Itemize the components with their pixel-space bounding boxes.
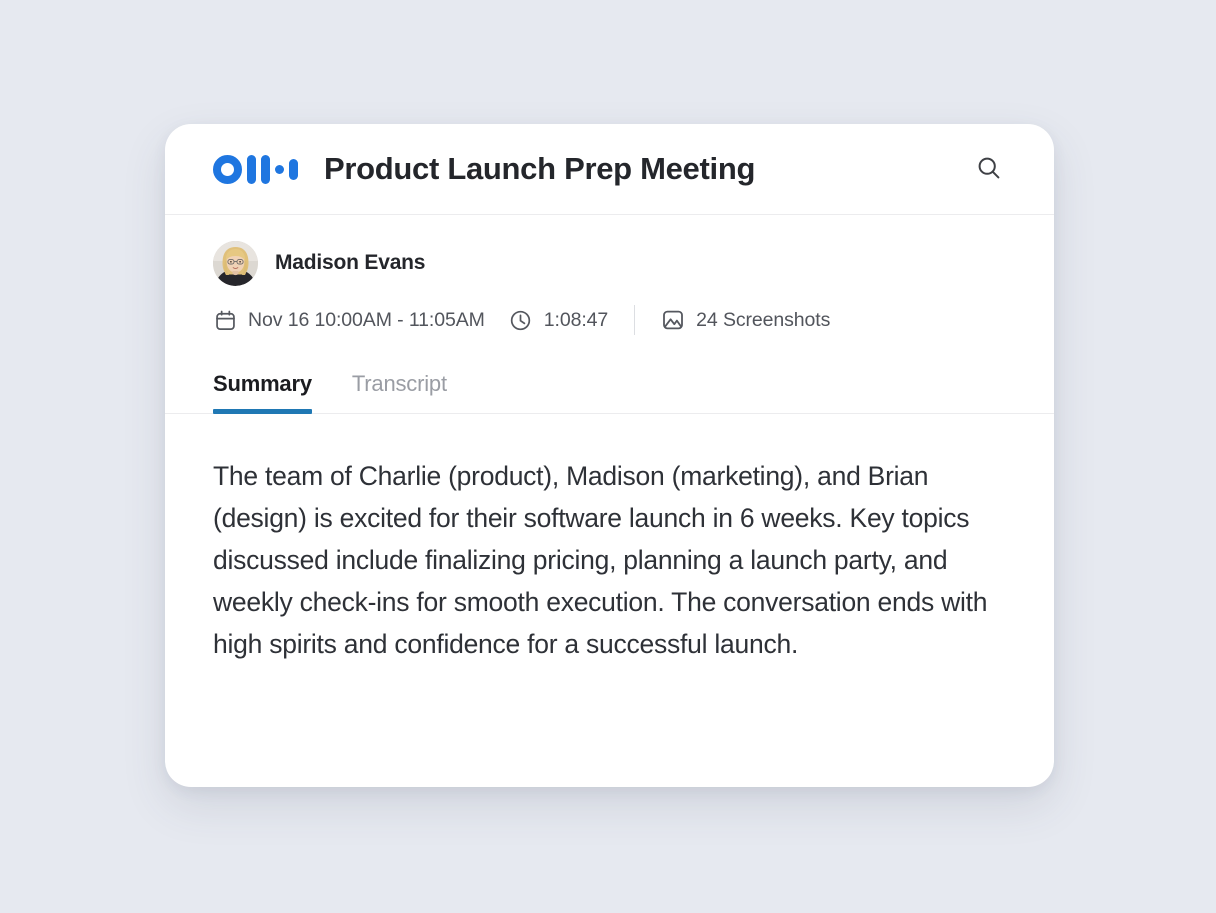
tab-bar: Summary Transcript <box>165 364 1054 414</box>
meeting-info-row: Nov 16 10:00AM - 11:05AM 1:08:47 <box>213 305 1006 335</box>
avatar[interactable] <box>213 241 258 286</box>
meeting-screenshots-item[interactable]: 24 Screenshots <box>661 308 830 332</box>
meeting-duration-item: 1:08:47 <box>509 308 608 332</box>
image-icon <box>661 308 685 332</box>
tab-summary[interactable]: Summary <box>213 371 312 413</box>
otter-logo-bar-2 <box>261 155 270 184</box>
otter-logo-bar-1 <box>247 155 256 184</box>
page-background: Product Launch Prep Meeting <box>0 0 1216 913</box>
search-button[interactable] <box>971 151 1007 187</box>
otter-logo-bar-3 <box>289 159 298 180</box>
otter-logo[interactable] <box>213 155 298 184</box>
meeting-duration-text: 1:08:47 <box>544 309 608 332</box>
speaker-name: Madison Evans <box>275 251 425 275</box>
summary-panel: The team of Charlie (product), Madison (… <box>165 414 1054 665</box>
meeting-meta: Madison Evans Nov 16 10:00AM - 11:05AM <box>165 215 1054 335</box>
meeting-date-text: Nov 16 10:00AM - 11:05AM <box>248 309 485 332</box>
card-header: Product Launch Prep Meeting <box>165 124 1054 215</box>
meeting-card: Product Launch Prep Meeting <box>165 124 1054 787</box>
tab-transcript[interactable]: Transcript <box>352 371 447 413</box>
otter-logo-dot <box>275 165 284 174</box>
summary-text: The team of Charlie (product), Madison (… <box>213 455 988 665</box>
speaker-row: Madison Evans <box>213 239 1006 287</box>
calendar-icon <box>213 308 237 332</box>
page-title: Product Launch Prep Meeting <box>324 151 971 187</box>
otter-logo-ring <box>213 155 242 184</box>
meeting-date-item: Nov 16 10:00AM - 11:05AM <box>213 308 485 332</box>
meeting-screenshots-text: 24 Screenshots <box>696 309 830 332</box>
clock-icon <box>509 308 533 332</box>
info-divider <box>634 305 635 335</box>
search-icon <box>975 154 1003 185</box>
